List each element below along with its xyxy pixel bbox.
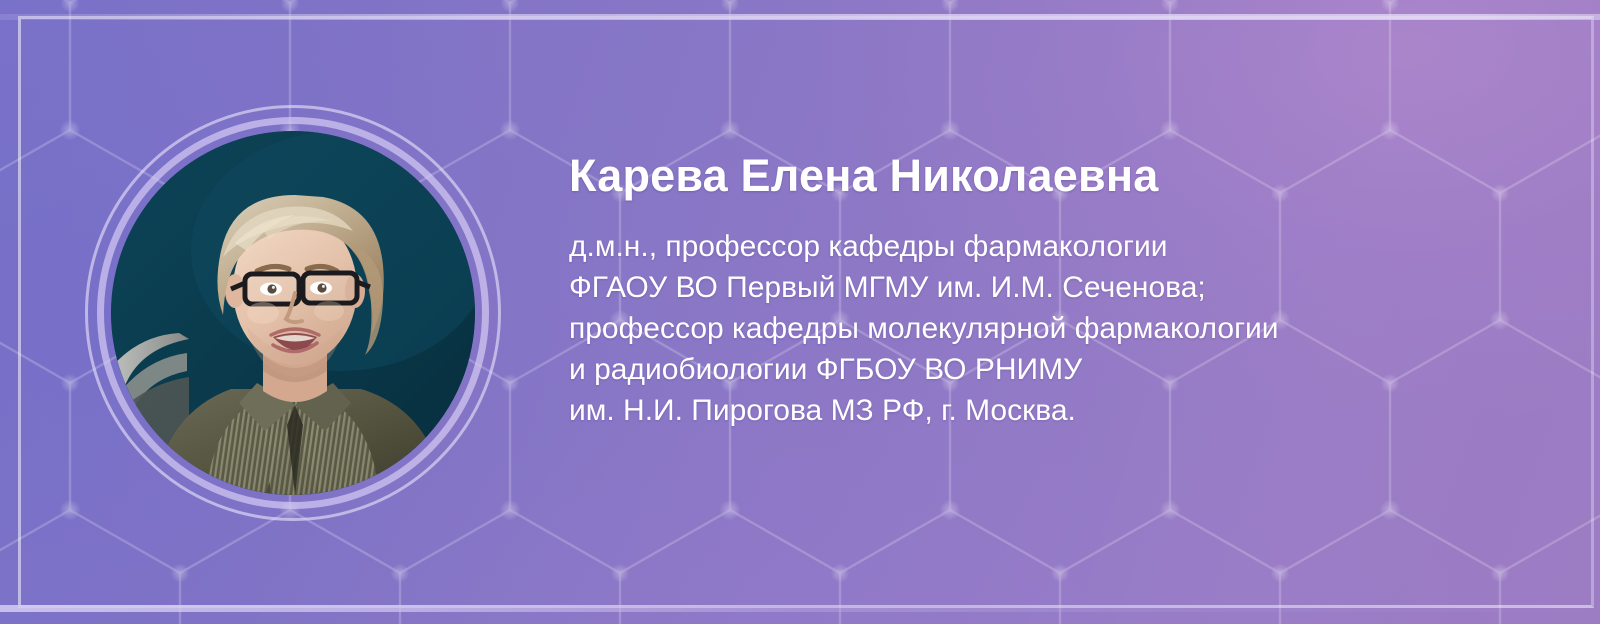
frame-bottom-highlight — [0, 605, 1600, 612]
portrait-photo — [111, 131, 475, 495]
speaker-text-block: Карева Елена Николаевна д.м.н., профессо… — [569, 148, 1499, 431]
speaker-name: Карева Елена Николаевна — [569, 148, 1499, 204]
affiliation-line: и радиобиологии ФГБОУ ВО РНИМУ — [569, 349, 1499, 390]
affiliation-line: им. Н.И. Пирогова МЗ РФ, г. Москва. — [569, 390, 1499, 431]
affiliation-line: д.м.н., профессор кафедры фармакологии — [569, 226, 1499, 267]
speaker-affiliation-list: д.м.н., профессор кафедры фармакологии Ф… — [569, 226, 1499, 431]
speaker-portrait — [111, 131, 475, 495]
speaker-intro-slide: Карева Елена Николаевна д.м.н., профессо… — [0, 0, 1600, 624]
affiliation-line: профессор кафедры молекулярной фармаколо… — [569, 308, 1499, 349]
affiliation-line: ФГАОУ ВО Первый МГМУ им. И.М. Сеченова; — [569, 267, 1499, 308]
portrait-illustration — [111, 131, 475, 495]
frame-top-highlight — [0, 14, 1600, 20]
